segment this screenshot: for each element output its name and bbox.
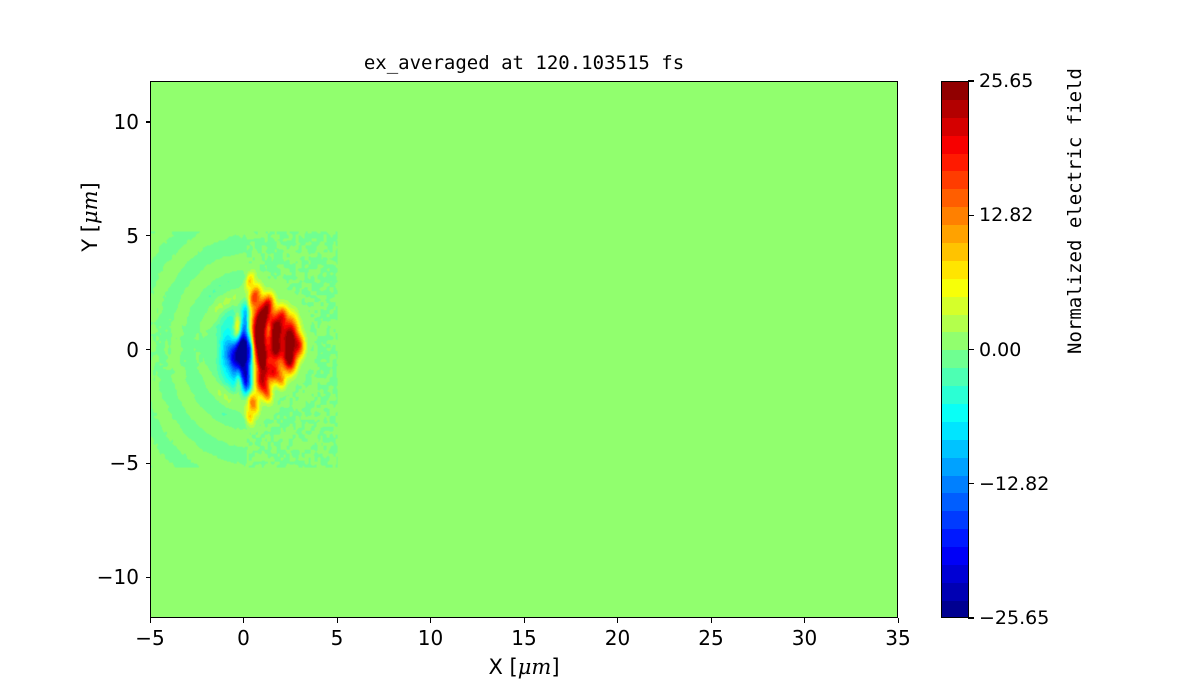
y-tick-label: −5 bbox=[55, 451, 139, 475]
x-tick-label: 10 bbox=[418, 626, 443, 650]
colorbar-band bbox=[942, 332, 968, 350]
colorbar-label: Normalized electric field bbox=[1064, 61, 1086, 361]
x-axis-label-bracket: ] bbox=[551, 655, 559, 679]
colorbar-band bbox=[942, 207, 968, 225]
x-tick-mark bbox=[150, 618, 151, 623]
colorbar-tick-mark bbox=[968, 483, 974, 484]
heatmap-axes[interactable] bbox=[150, 81, 898, 618]
x-tick-label: 5 bbox=[331, 626, 344, 650]
plot-title: ex_averaged at 120.103515 fs bbox=[150, 52, 898, 74]
x-tick-label: 30 bbox=[792, 626, 817, 650]
colorbar-band bbox=[942, 118, 968, 136]
colorbar-tick-label: −25.65 bbox=[979, 607, 1049, 629]
colorbar-band bbox=[942, 583, 968, 601]
x-tick-mark bbox=[524, 618, 525, 623]
x-axis-label: X [μm] bbox=[150, 655, 898, 679]
colorbar-band bbox=[942, 315, 968, 333]
y-tick-mark bbox=[146, 121, 151, 122]
colorbar[interactable] bbox=[941, 81, 969, 618]
x-tick-label: 0 bbox=[237, 626, 250, 650]
colorbar-tick-label: 12.82 bbox=[979, 204, 1033, 226]
colorbar-band bbox=[942, 136, 968, 154]
x-axis-label-units: μm bbox=[518, 655, 552, 679]
x-tick-mark bbox=[804, 618, 805, 623]
y-axis-label: Y [μm] bbox=[78, 72, 102, 362]
colorbar-band bbox=[942, 565, 968, 583]
x-tick-label: −5 bbox=[135, 626, 164, 650]
colorbar-tick-mark bbox=[968, 617, 974, 618]
colorbar-band bbox=[942, 476, 968, 494]
colorbar-tick-mark bbox=[968, 80, 974, 81]
colorbar-band bbox=[942, 601, 968, 618]
x-tick-label: 20 bbox=[605, 626, 630, 650]
x-tick-mark bbox=[430, 618, 431, 623]
colorbar-band bbox=[942, 171, 968, 189]
colorbar-band bbox=[942, 368, 968, 386]
field-heatmap-image bbox=[151, 82, 897, 617]
colorbar-band bbox=[942, 350, 968, 368]
colorbar-tick-label: 0.00 bbox=[979, 339, 1021, 361]
y-tick-label: −10 bbox=[55, 565, 139, 589]
y-axis-label-bracket: ] bbox=[78, 182, 102, 190]
colorbar-band bbox=[942, 422, 968, 440]
x-tick-mark bbox=[243, 618, 244, 623]
x-tick-mark bbox=[711, 618, 712, 623]
colorbar-band bbox=[942, 547, 968, 565]
colorbar-band bbox=[942, 458, 968, 476]
x-tick-mark bbox=[898, 618, 899, 623]
y-tick-mark bbox=[146, 235, 151, 236]
colorbar-band bbox=[942, 511, 968, 529]
x-tick-label: 25 bbox=[698, 626, 723, 650]
colorbar-band bbox=[942, 225, 968, 243]
y-tick-mark bbox=[146, 349, 151, 350]
colorbar-tick-label: −12.82 bbox=[979, 473, 1049, 495]
x-axis-label-text: X [ bbox=[488, 655, 517, 679]
colorbar-band bbox=[942, 154, 968, 172]
colorbar-tick-mark bbox=[968, 215, 974, 216]
figure-canvas: ex_averaged at 120.103515 fs −5051015202… bbox=[0, 0, 1200, 700]
colorbar-band bbox=[942, 440, 968, 458]
colorbar-band bbox=[942, 529, 968, 547]
x-tick-label: 15 bbox=[511, 626, 536, 650]
colorbar-band bbox=[942, 279, 968, 297]
colorbar-band bbox=[942, 243, 968, 261]
y-tick-mark bbox=[146, 463, 151, 464]
y-tick-mark bbox=[146, 577, 151, 578]
colorbar-band bbox=[942, 493, 968, 511]
colorbar-tick-label: 25.65 bbox=[979, 70, 1033, 92]
colorbar-band bbox=[942, 189, 968, 207]
colorbar-tick-mark bbox=[968, 349, 974, 350]
x-tick-mark bbox=[617, 618, 618, 623]
colorbar-band bbox=[942, 297, 968, 315]
colorbar-band bbox=[942, 386, 968, 404]
y-axis-label-text: Y [ bbox=[78, 224, 102, 252]
x-tick-label: 35 bbox=[885, 626, 910, 650]
colorbar-band bbox=[942, 404, 968, 422]
colorbar-band bbox=[942, 100, 968, 118]
x-tick-mark bbox=[337, 618, 338, 623]
y-axis-label-units: μm bbox=[78, 190, 102, 224]
colorbar-band bbox=[942, 261, 968, 279]
colorbar-band bbox=[942, 82, 968, 100]
